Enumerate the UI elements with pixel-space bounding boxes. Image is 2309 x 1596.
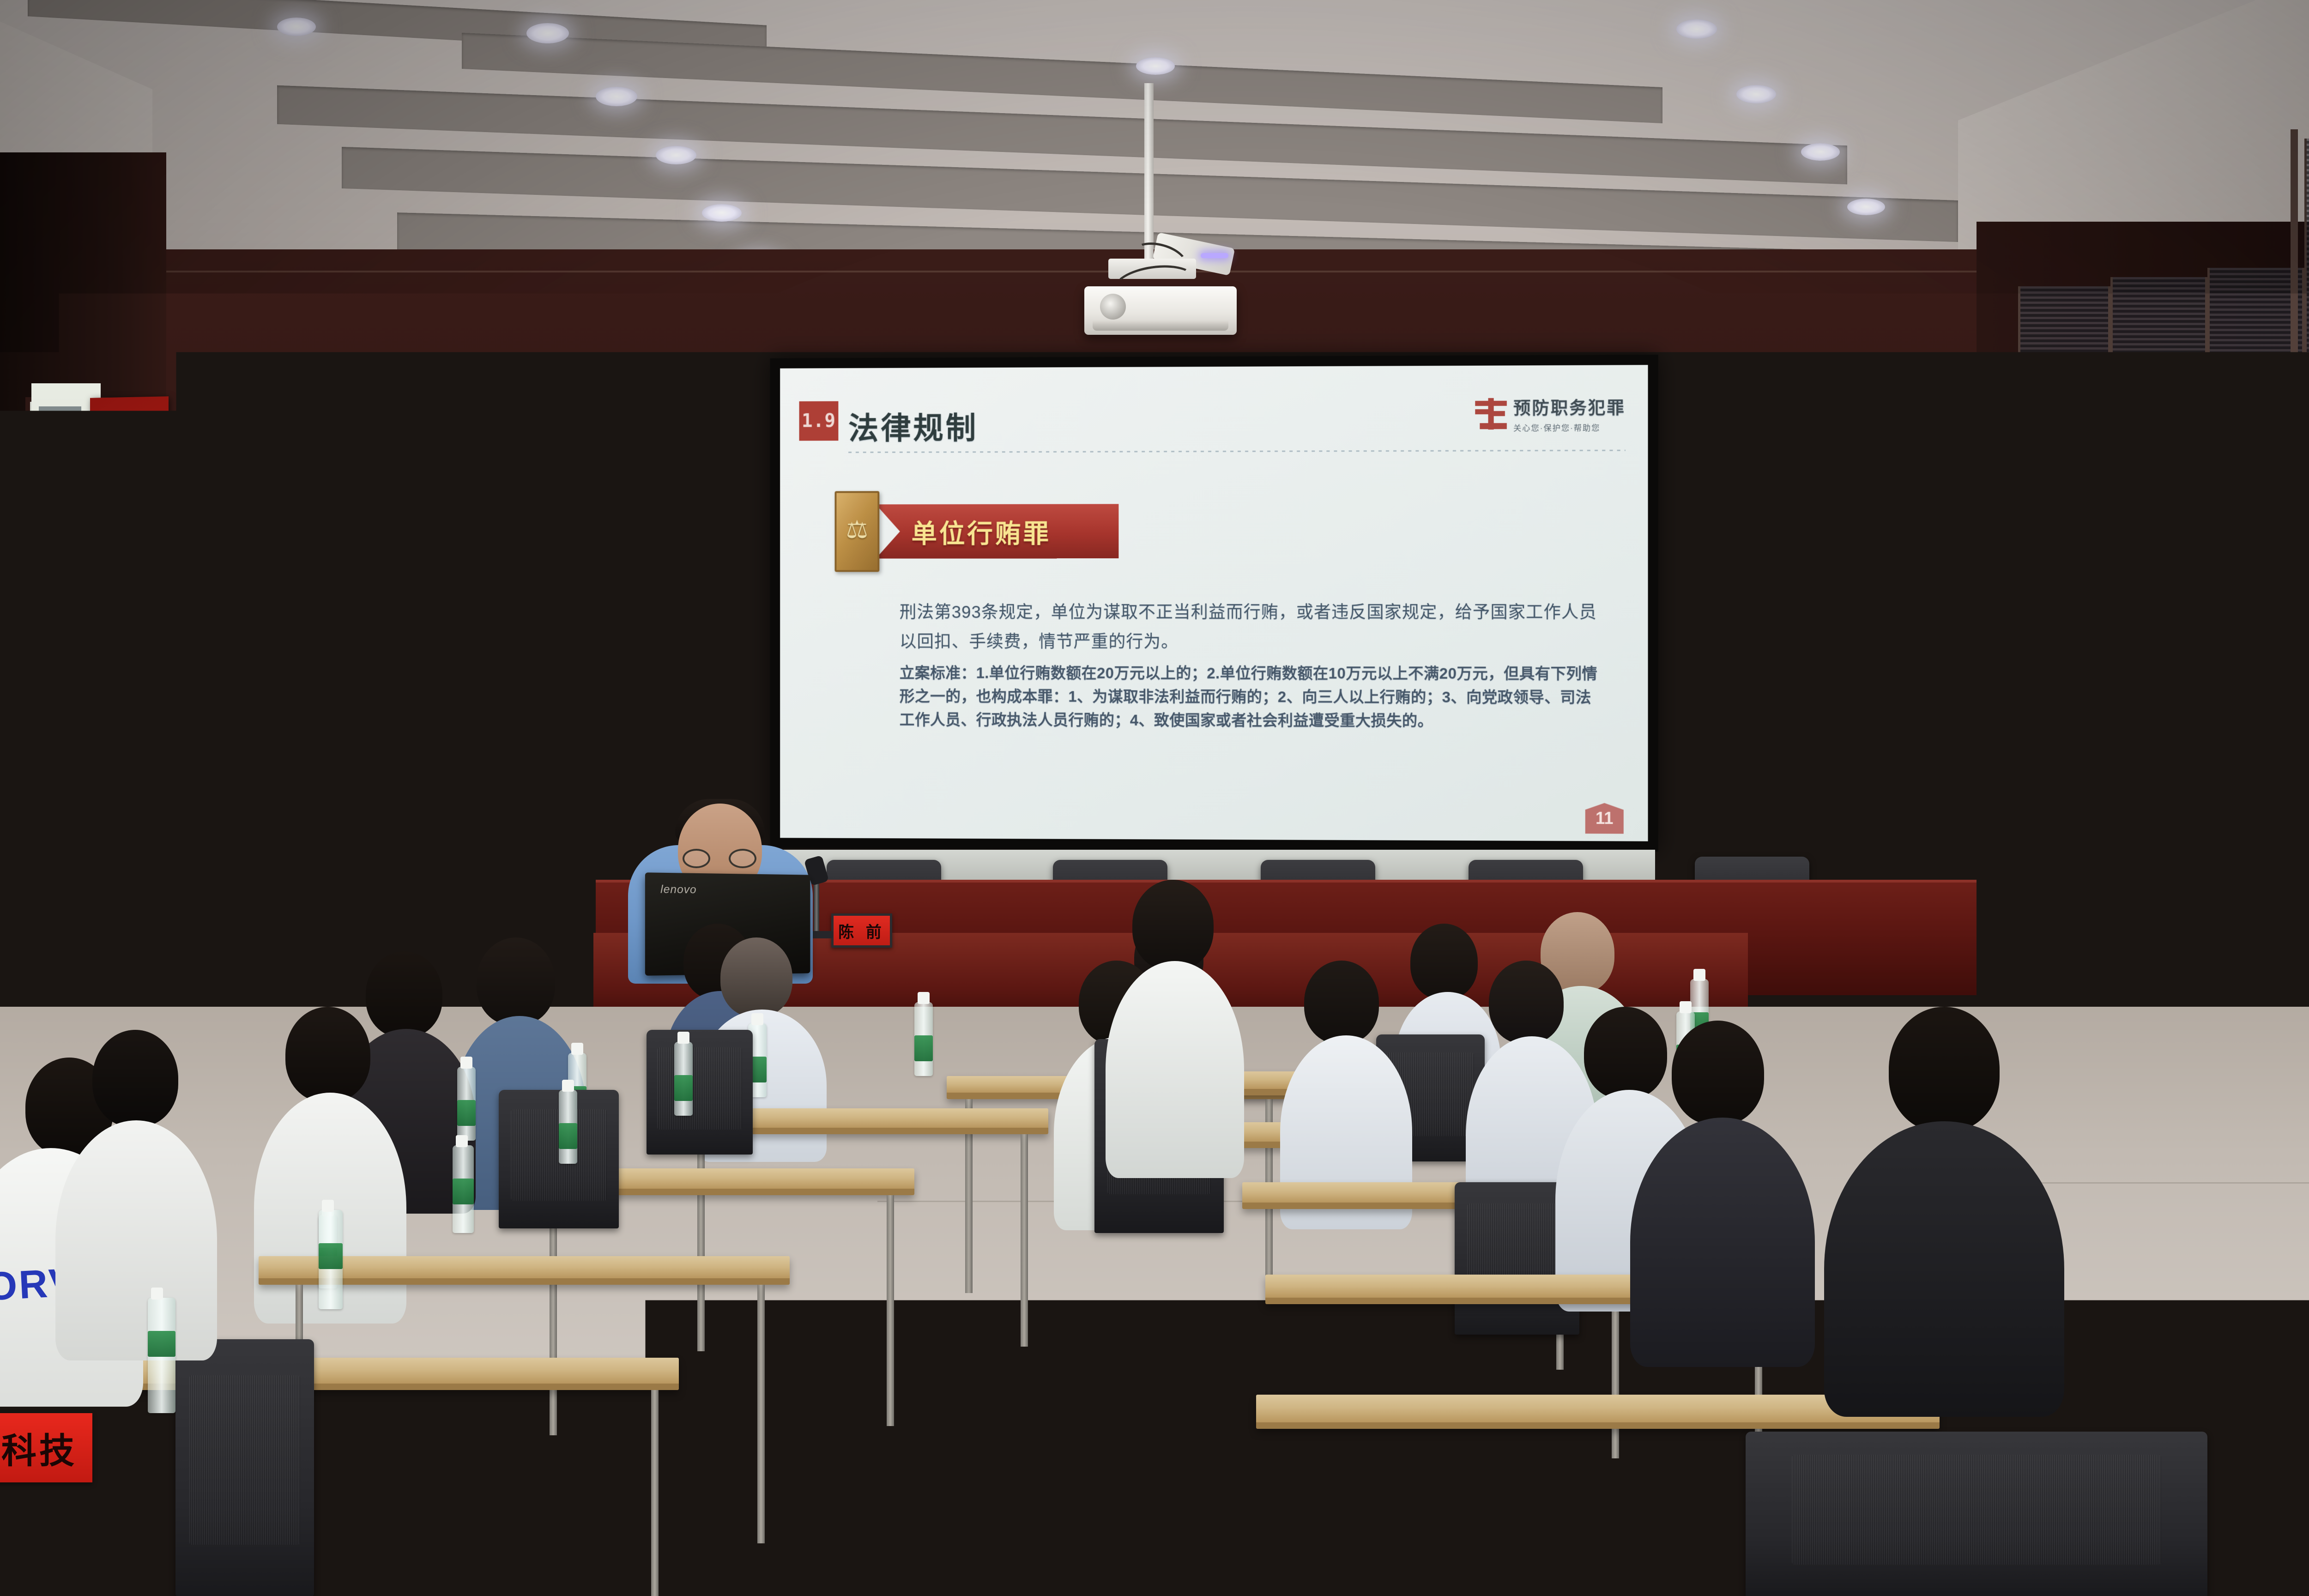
window-mullion xyxy=(2018,702,2309,705)
slide-body: 刑法第393条规定，单位为谋取不正当利益而行贿，或者违反国家规定，给予国家工作人… xyxy=(900,598,1601,733)
speaker-nameplate: 陈 前 xyxy=(831,913,892,948)
ceiling-downlight xyxy=(596,87,637,106)
water-bottle xyxy=(674,1042,693,1116)
water-bottle xyxy=(559,1090,577,1164)
slide-section-number: 1.9 xyxy=(799,401,839,441)
ceiling-downlight xyxy=(1676,19,1717,39)
person-torso xyxy=(1106,961,1244,1178)
ceiling-downlight xyxy=(1801,143,1840,161)
desk-leg xyxy=(697,1134,705,1351)
conference-room-scene: 1.9 法律规制 预防职务犯罪 关心您·保护您·帮助您 xyxy=(0,0,2309,1596)
ribbon-label: 单位行贿罪 xyxy=(912,513,1052,550)
slide-page-number: 11 xyxy=(1585,803,1624,834)
slide-brand-logo: 预防职务犯罪 关心您·保护您·帮助您 xyxy=(1474,394,1626,434)
slide-content: 1.9 法律规制 预防职务犯罪 关心您·保护您·帮助您 xyxy=(780,365,1648,841)
person-head xyxy=(1889,1007,2000,1131)
floor-tile-seam xyxy=(831,1330,1385,1331)
person-head xyxy=(720,937,792,1017)
person-torso xyxy=(1630,1118,1815,1367)
person-head xyxy=(477,937,555,1025)
zheng-character-logo-icon xyxy=(1474,397,1508,431)
desk-leg xyxy=(757,1285,765,1543)
podium-microphone xyxy=(814,877,819,933)
notice-board-text-line xyxy=(40,500,46,555)
person-in-doorway xyxy=(29,794,77,933)
presenter-glasses-icon xyxy=(683,849,757,868)
notice-board-text-line xyxy=(39,417,75,420)
logo-tagline: 关心您·保护您·帮助您 xyxy=(1513,421,1626,433)
ceiling-downlight xyxy=(702,204,742,222)
ceiling-downlight xyxy=(277,18,316,36)
person-head xyxy=(1132,880,1214,970)
wall-banner-gold-glyphs xyxy=(155,425,167,767)
projection-screen: 1.9 法律规制 预防职务犯罪 关心您·保护您·帮助您 xyxy=(770,355,1658,852)
person-torso xyxy=(55,1120,217,1360)
projector-lens-icon xyxy=(1100,294,1126,320)
classroom-chair xyxy=(647,1030,753,1155)
topic-ribbon: 单位行贿罪 xyxy=(834,490,1118,572)
notice-board-text-line xyxy=(39,406,81,411)
desk-leg xyxy=(1021,1134,1028,1347)
desk-leg xyxy=(550,1195,557,1435)
scales-of-justice-icon xyxy=(834,491,879,572)
ceiling-downlight xyxy=(1847,199,1885,215)
desk-leg xyxy=(887,1195,894,1426)
wall-trim xyxy=(1662,628,2013,630)
person-head xyxy=(366,951,442,1037)
slide-title: 法律规制 xyxy=(848,404,978,448)
water-bottle xyxy=(148,1298,175,1413)
person-torso xyxy=(1824,1121,2064,1417)
ceiling-downlight xyxy=(1136,57,1175,75)
desk-name-card-left: 科技 xyxy=(0,1413,92,1482)
person-head xyxy=(1304,961,1379,1044)
ribbon-banner: 单位行贿罪 xyxy=(876,504,1118,558)
ceiling-downlight xyxy=(526,23,569,43)
logo-name: 预防职务犯罪 xyxy=(1513,394,1626,419)
wall-trim xyxy=(152,271,2013,272)
wall-trim xyxy=(152,628,762,630)
header-divider xyxy=(848,450,1626,453)
laptop-brand-label: lenovo xyxy=(660,883,696,896)
water-bottle xyxy=(319,1210,343,1309)
water-bottle xyxy=(453,1145,474,1233)
screen-top-casing xyxy=(767,357,1655,385)
person-head xyxy=(1410,924,1478,999)
classroom-chair xyxy=(175,1339,314,1596)
water-bottle xyxy=(914,1002,933,1076)
glass-partition xyxy=(2018,286,2110,1131)
person-head xyxy=(1489,961,1564,1044)
notice-board-image xyxy=(41,443,91,478)
person-head xyxy=(92,1030,178,1127)
person-head xyxy=(1672,1021,1764,1125)
definition-paragraph: 刑法第393条规定，单位为谋取不正当利益而行贿，或者违反国家规定，给予国家工作人… xyxy=(900,598,1601,657)
person-head xyxy=(285,1007,370,1102)
criteria-paragraph: 立案标准：1.单位行贿数额在20万元以上的；2.单位行贿数额在10万元以上不满2… xyxy=(900,662,1601,733)
desk-leg xyxy=(651,1390,659,1596)
projector-mount-pipe xyxy=(1144,83,1154,268)
desk-name-card-right: 图 xyxy=(1718,1390,1838,1469)
ceiling-downlight xyxy=(1736,85,1776,103)
water-bottle xyxy=(457,1067,476,1141)
projector-status-led xyxy=(1201,253,1228,258)
person-head xyxy=(1584,1007,1667,1099)
ceiling-downlight xyxy=(656,146,696,164)
